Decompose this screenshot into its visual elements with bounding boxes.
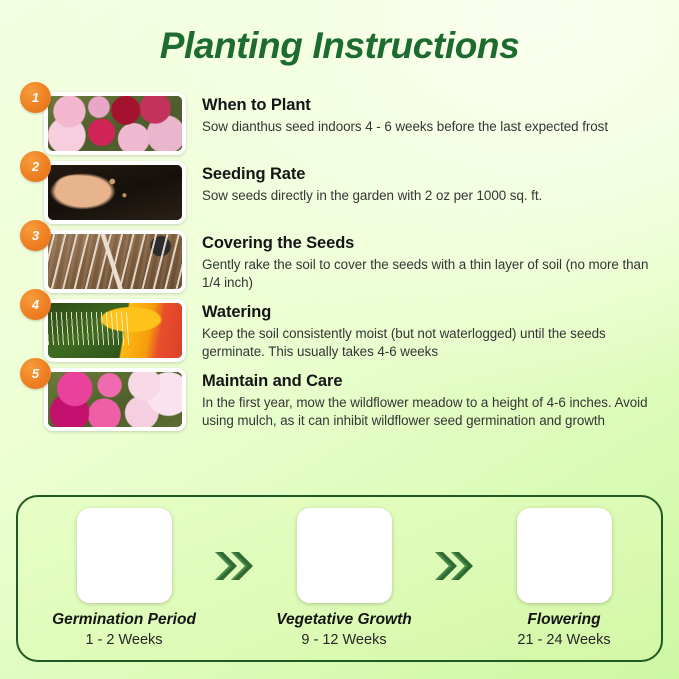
- step-title: When to Plant: [202, 95, 653, 116]
- step-thumbnail-wrap: 5: [44, 368, 186, 431]
- step-thumbnail-wrap: 2: [44, 161, 186, 224]
- stage-duration: 21 - 24 Weeks: [480, 631, 648, 649]
- step-description: Sow seeds directly in the garden with 2 …: [202, 187, 653, 205]
- step-description: In the first year, mow the wildflower me…: [202, 394, 653, 431]
- step-title: Seeding Rate: [202, 164, 653, 185]
- stage-name: Vegetative Growth: [260, 610, 428, 629]
- step-text: Watering Keep the soil consistently mois…: [202, 299, 679, 361]
- step-text: Covering the Seeds Gently rake the soil …: [202, 230, 679, 292]
- step-item: 2 Seeding Rate Sow seeds directly in the…: [0, 161, 679, 224]
- step-number-badge: 5: [20, 358, 51, 389]
- step-text: Seeding Rate Sow seeds directly in the g…: [202, 161, 679, 205]
- step-description: Gently rake the soil to cover the seeds …: [202, 256, 653, 293]
- step-title: Watering: [202, 302, 653, 323]
- timeline-stage-vegetative: Vegetative Growth 9 - 12 Weeks: [260, 508, 428, 649]
- step-item: 3 Covering the Seeds Gently rake the soi…: [0, 230, 679, 293]
- timeline-stage-flowering: Flowering 21 - 24 Weeks: [480, 508, 648, 649]
- stage-duration: 9 - 12 Weeks: [260, 631, 428, 649]
- step-thumbnail-wrap: 1: [44, 92, 186, 155]
- green-foliage-image: [297, 508, 392, 603]
- timeline-stage-germination: Germination Period 1 - 2 Weeks: [40, 508, 208, 649]
- step-thumbnail-wrap: 4: [44, 299, 186, 362]
- step-image-pink-dianthus-blooms: [44, 368, 186, 431]
- step-text: When to Plant Sow dianthus seed indoors …: [202, 92, 679, 136]
- dianthus-flowering-image: [517, 508, 612, 603]
- double-chevron-right-icon: [428, 549, 480, 609]
- planting-instructions-poster: Planting Instructions 1 When to Plant So…: [0, 0, 679, 679]
- step-image-rake-on-soil: [44, 230, 186, 293]
- step-description: Sow dianthus seed indoors 4 - 6 weeks be…: [202, 118, 653, 136]
- stage-name: Flowering: [480, 610, 648, 629]
- step-number-badge: 3: [20, 220, 51, 251]
- step-thumbnail-wrap: 3: [44, 230, 186, 293]
- step-description: Keep the soil consistently moist (but no…: [202, 325, 653, 362]
- steps-list: 1 When to Plant Sow dianthus seed indoor…: [0, 92, 679, 437]
- step-item: 5 Maintain and Care In the first year, m…: [0, 368, 679, 431]
- step-item: 1 When to Plant Sow dianthus seed indoor…: [0, 92, 679, 155]
- step-image-hand-sowing-seeds: [44, 161, 186, 224]
- step-image-dianthus-flower-bed: [44, 92, 186, 155]
- step-title: Maintain and Care: [202, 371, 653, 392]
- double-chevron-right-icon: [208, 549, 260, 609]
- step-item: 4 Watering Keep the soil consistently mo…: [0, 299, 679, 362]
- stage-name: Germination Period: [40, 610, 208, 629]
- seedling-sprout-image: [77, 508, 172, 603]
- step-number-badge: 1: [20, 82, 51, 113]
- page-title: Planting Instructions: [0, 0, 679, 67]
- growth-timeline-panel: Germination Period 1 - 2 Weeks Vegetativ…: [16, 495, 663, 662]
- step-number-badge: 2: [20, 151, 51, 182]
- step-number-badge: 4: [20, 289, 51, 320]
- step-image-watering-can: [44, 299, 186, 362]
- stage-duration: 1 - 2 Weeks: [40, 631, 208, 649]
- step-title: Covering the Seeds: [202, 233, 653, 254]
- step-text: Maintain and Care In the first year, mow…: [202, 368, 679, 430]
